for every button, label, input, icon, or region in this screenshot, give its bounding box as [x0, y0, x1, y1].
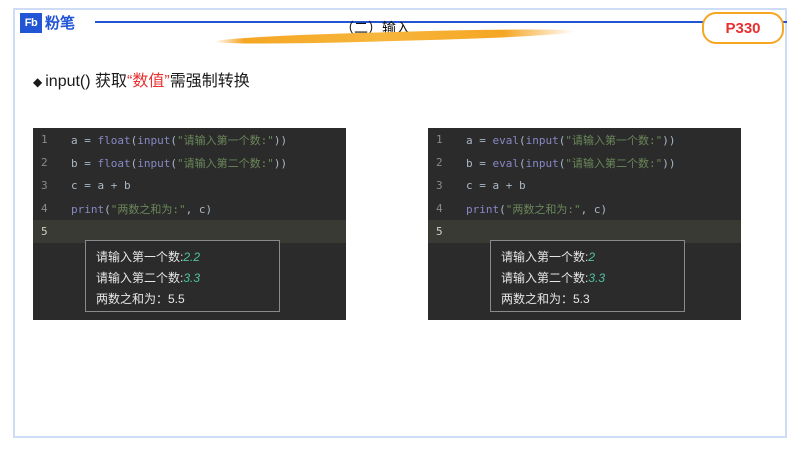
console-line-label: 请输入第一个数: [96, 250, 183, 264]
code-line: 4print("两数之和为:", c) [428, 197, 741, 220]
code-line-text: a = eval(input("请输入第一个数:")) [466, 132, 676, 148]
logo-mark: Fb [20, 13, 42, 33]
page-number-badge: P330 [702, 12, 784, 44]
slide: Fb 粉笔 （二）输入 P330 ◆ input() 获取 “数值” 需强制转换… [0, 0, 800, 450]
console-line-label: 请输入第二个数: [501, 271, 588, 285]
code-line-text: c = a + b [71, 179, 131, 192]
console-line-label: 两数之和为：5.3 [501, 292, 590, 306]
line-number: 4 [428, 202, 466, 215]
line-number: 4 [33, 202, 71, 215]
console-line-label: 请输入第一个数: [501, 250, 588, 264]
code-line-text: b = eval(input("请输入第二个数:")) [466, 155, 676, 171]
headline: ◆ input() 获取 “数值” 需强制转换 [33, 67, 250, 91]
bullet-diamond-icon: ◆ [33, 75, 42, 89]
console-line-label: 两数之和为：5.5 [96, 292, 185, 306]
code-line-text: print("两数之和为:", c) [71, 201, 212, 217]
code-line-text: a = float(input("请输入第一个数:")) [71, 132, 287, 148]
line-number: 1 [33, 133, 71, 146]
header-rule [95, 21, 787, 23]
console-line: 请输入第一个数:2 [501, 247, 674, 268]
console-line: 请输入第二个数:3.3 [501, 268, 674, 289]
line-number: 2 [428, 156, 466, 169]
console-line-value: 2 [588, 250, 595, 264]
line-number: 3 [428, 179, 466, 192]
code-line-text: print("两数之和为:", c) [466, 201, 607, 217]
console-output-left: 请输入第一个数:2.2请输入第二个数:3.3两数之和为：5.5 [85, 240, 280, 312]
code-line: 3c = a + b [33, 174, 346, 197]
code-line: 4print("两数之和为:", c) [33, 197, 346, 220]
console-output-right: 请输入第一个数:2请输入第二个数:3.3两数之和为：5.3 [490, 240, 685, 312]
headline-part2: 需强制转换 [170, 67, 250, 91]
code-line: 2b = float(input("请输入第二个数:")) [33, 151, 346, 174]
code-line: 2b = eval(input("请输入第二个数:")) [428, 151, 741, 174]
line-number: 5 [33, 225, 71, 238]
code-line: 1a = eval(input("请输入第一个数:")) [428, 128, 741, 151]
console-line-label: 请输入第二个数: [96, 271, 183, 285]
console-line: 两数之和为：5.5 [96, 289, 269, 310]
code-line-text: c = a + b [466, 179, 526, 192]
logo-text: 粉笔 [45, 12, 75, 33]
code-line: 3c = a + b [428, 174, 741, 197]
line-number: 3 [33, 179, 71, 192]
code-line-text: b = float(input("请输入第二个数:")) [71, 155, 287, 171]
line-number: 5 [428, 225, 466, 238]
console-line-value: 3.3 [588, 271, 605, 285]
console-line: 请输入第二个数:3.3 [96, 268, 269, 289]
headline-highlight: “数值” [127, 67, 170, 91]
console-line: 请输入第一个数:2.2 [96, 247, 269, 268]
code-line: 1a = float(input("请输入第一个数:")) [33, 128, 346, 151]
console-line: 两数之和为：5.3 [501, 289, 674, 310]
console-line-value: 2.2 [183, 250, 200, 264]
line-number: 1 [428, 133, 466, 146]
brand-logo: Fb 粉笔 [18, 10, 79, 35]
line-number: 2 [33, 156, 71, 169]
console-line-value: 3.3 [183, 271, 200, 285]
headline-part1: input() 获取 [45, 67, 127, 91]
